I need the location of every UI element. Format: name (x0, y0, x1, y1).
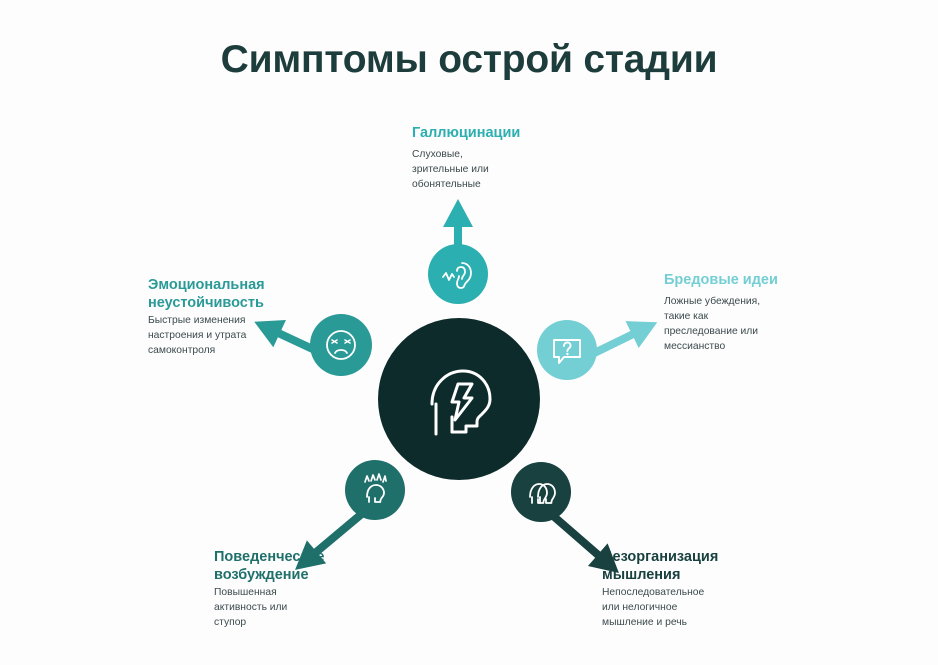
desc-hallucinations: Слуховые, зрительные или обонятельные (412, 148, 572, 193)
desc-behavioral-agitation: Повышенная активность или ступор (214, 586, 394, 631)
label-emotional-instability: Эмоциональная неустойчивость (148, 277, 368, 312)
label-behavioral-agitation: Поведенческое возбуждение (214, 549, 444, 584)
node-delusions[interactable] (537, 320, 597, 380)
node-behavioral-agitation[interactable] (345, 460, 405, 520)
two-heads-icon (522, 473, 560, 511)
ear-sound-icon (440, 256, 476, 292)
speech-bubble-question-icon (549, 332, 585, 368)
head-lightning-icon (422, 360, 496, 438)
desc-delusions: Ложные убеждения, такие как преследовани… (664, 295, 854, 355)
page-title: Симптомы острой стадии (0, 38, 938, 82)
center-node (378, 318, 540, 480)
node-disorganized-thinking[interactable] (511, 462, 571, 522)
label-delusions: Бредовые идеи (664, 272, 884, 290)
desc-emotional-instability: Быстрые изменения настроения и утрата са… (148, 314, 328, 359)
node-hallucinations[interactable] (428, 244, 488, 304)
agitated-head-icon (356, 471, 394, 509)
label-disorganized-thinking: Дезорганизация мышления (602, 549, 842, 584)
infographic-canvas: Симптомы острой стадии (0, 0, 938, 665)
desc-disorganized-thinking: Непоследовательное или нелогичное мышлен… (602, 586, 802, 631)
label-hallucinations: Галлюцинации (412, 125, 622, 143)
